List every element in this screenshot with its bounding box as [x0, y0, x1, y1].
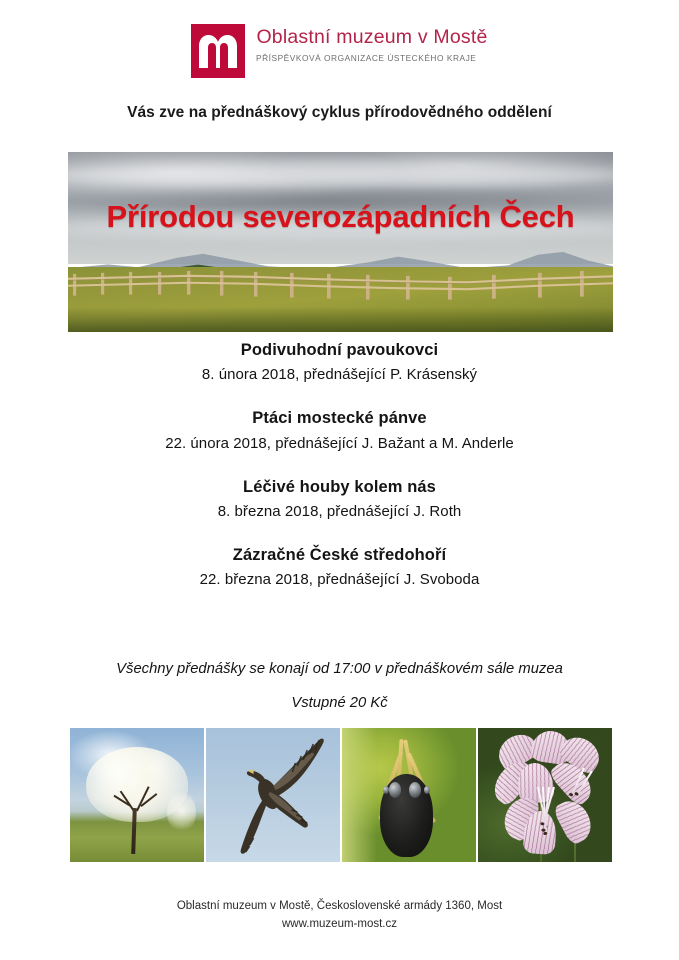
lecture-detail: 8. března 2018, přednášející J. Roth: [0, 501, 679, 522]
spider-eye: [389, 782, 401, 798]
lecture-item: Ptáci mostecké pánve 22. února 2018, pře…: [0, 407, 679, 453]
dictamnus-flower-photo: [478, 728, 612, 862]
logo-m-glyph-icon: [197, 34, 239, 68]
banner-title: Přírodou severozápadních Čech: [68, 199, 613, 235]
lecture-title: Podivuhodní pavoukovci: [0, 339, 679, 361]
spider-eye: [383, 786, 389, 794]
spider-eye: [409, 782, 421, 798]
lecture-detail: 22. února 2018, přednášející J. Bažant a…: [0, 433, 679, 454]
banner-wooden-fence: [68, 260, 613, 300]
footer-address: Oblastní muzeum v Mostě, Československé …: [0, 898, 679, 916]
price-note: Vstupné 20 Kč: [0, 693, 679, 714]
flower-anther: [541, 828, 545, 831]
banner-photo: Přírodou severozápadních Čech: [68, 152, 613, 332]
lecture-detail: 22. března 2018, přednášející J. Svoboda: [0, 569, 679, 590]
poster: Oblastní muzeum v Mostě PŘÍSPĚVKOVÁ ORGA…: [0, 0, 679, 960]
lecture-list: Podivuhodní pavoukovci 8. února 2018, př…: [0, 339, 679, 612]
notes-block: Všechny přednášky se konají od 17:00 v p…: [0, 659, 679, 715]
lecture-item: Zázračné České středohoří 22. března 201…: [0, 544, 679, 590]
organization-name: Oblastní muzeum v Mostě: [256, 27, 487, 49]
photo-strip: [70, 728, 612, 862]
banner-cloud-band: [68, 163, 613, 188]
flower-petal: [551, 795, 597, 847]
banner-meadow-shadow: [68, 307, 613, 332]
jumping-spider-photo: [342, 728, 476, 862]
lecture-title: Léčivé houby kolem nás: [0, 476, 679, 498]
footer: Oblastní muzeum v Mostě, Československé …: [0, 898, 679, 934]
footer-website: www.muzeum-most.cz: [0, 916, 679, 934]
time-note: Všechny přednášky se konají od 17:00 v p…: [0, 659, 679, 680]
spider-background-blur: [342, 728, 377, 862]
eagle-in-flight-photo: [206, 728, 340, 862]
museum-logo-text: Oblastní muzeum v Mostě PŘÍSPĚVKOVÁ ORGA…: [256, 22, 487, 63]
museum-m-logo-icon: [191, 24, 245, 78]
tree-trunk: [131, 808, 137, 854]
invitation-line: Vás zve na přednáškový cyklus přírodověd…: [0, 104, 679, 122]
museum-header: Oblastní muzeum v Mostě PŘÍSPĚVKOVÁ ORGA…: [0, 22, 679, 78]
lecture-title: Ptáci mostecké pánve: [0, 407, 679, 429]
lecture-item: Podivuhodní pavoukovci 8. února 2018, př…: [0, 339, 679, 385]
lecture-item: Léčivé houby kolem nás 8. března 2018, p…: [0, 476, 679, 522]
organization-subtitle: PŘÍSPĚVKOVÁ ORGANIZACE ÚSTECKÉHO KRAJE: [256, 53, 480, 63]
eagle-silhouette-icon: [206, 728, 340, 862]
lecture-title: Zázračné České středohoří: [0, 544, 679, 566]
lecture-detail: 8. února 2018, přednášející P. Krásenský: [0, 364, 679, 385]
background-tree: [167, 792, 196, 832]
blossoming-tree-photo: [70, 728, 204, 862]
spider-eye: [424, 786, 430, 794]
